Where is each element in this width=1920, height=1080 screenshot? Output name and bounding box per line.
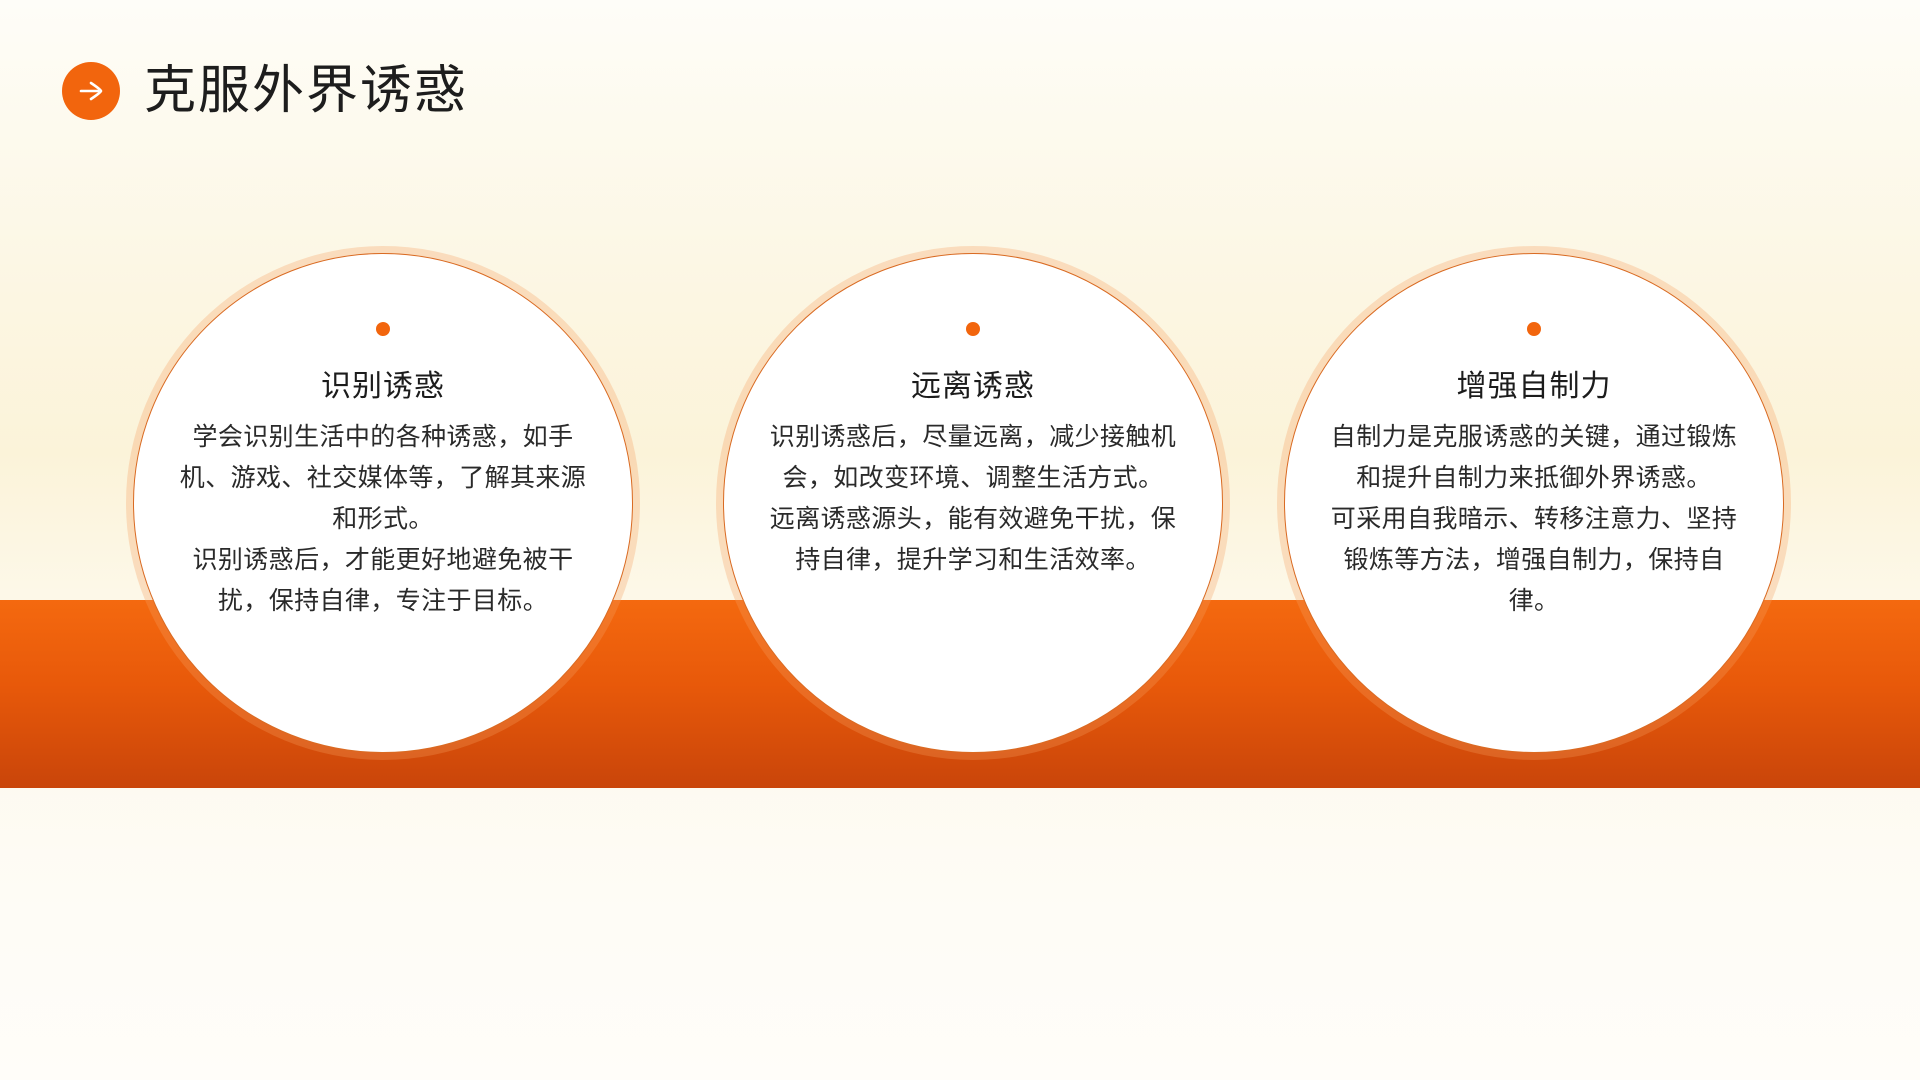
circle-cards-group: 识别诱惑 学会识别生活中的各种诱惑，如手机、游戏、社交媒体等，了解其来源和形式。… [0,0,1920,1080]
card-body: 自制力是克服诱惑的关键，通过锻炼和提升自制力来抵御外界诱惑。 可采用自我暗示、转… [1319,416,1749,621]
page-title: 克服外界诱惑 [144,65,468,117]
card-paragraph: 远离诱惑源头，能有效避免干扰，保持自律，提升学习和生活效率。 [758,498,1188,580]
circle-card-2[interactable]: 远离诱惑 识别诱惑后，尽量远离，减少接触机会，如改变环境、调整生活方式。 远离诱… [723,253,1223,753]
card-title: 识别诱惑 [321,372,445,402]
bullet-dot-icon [376,322,390,336]
bullet-dot-icon [966,322,980,336]
card-body: 识别诱惑后，尽量远离，减少接触机会，如改变环境、调整生活方式。 远离诱惑源头，能… [758,416,1188,580]
card-title: 远离诱惑 [911,372,1035,402]
card-title: 增强自制力 [1457,372,1612,402]
card-paragraph: 可采用自我暗示、转移注意力、坚持锻炼等方法，增强自制力，保持自律。 [1319,498,1749,621]
slide-header: 克服外界诱惑 [62,62,468,120]
card-paragraph: 自制力是克服诱惑的关键，通过锻炼和提升自制力来抵御外界诱惑。 [1319,416,1749,498]
card-paragraph: 学会识别生活中的各种诱惑，如手机、游戏、社交媒体等，了解其来源和形式。 [168,416,598,539]
card-paragraph: 识别诱惑后，才能更好地避免被干扰，保持自律，专注于目标。 [168,539,598,621]
circle-card-1[interactable]: 识别诱惑 学会识别生活中的各种诱惑，如手机、游戏、社交媒体等，了解其来源和形式。… [133,253,633,753]
arrow-right-icon [62,62,120,120]
circle-card-3[interactable]: 增强自制力 自制力是克服诱惑的关键，通过锻炼和提升自制力来抵御外界诱惑。 可采用… [1284,253,1784,753]
slide: 克服外界诱惑 识别诱惑 学会识别生活中的各种诱惑，如手机、游戏、社交媒体等，了解… [0,0,1920,1080]
card-paragraph: 识别诱惑后，尽量远离，减少接触机会，如改变环境、调整生活方式。 [758,416,1188,498]
bullet-dot-icon [1527,322,1541,336]
card-body: 学会识别生活中的各种诱惑，如手机、游戏、社交媒体等，了解其来源和形式。 识别诱惑… [168,416,598,621]
